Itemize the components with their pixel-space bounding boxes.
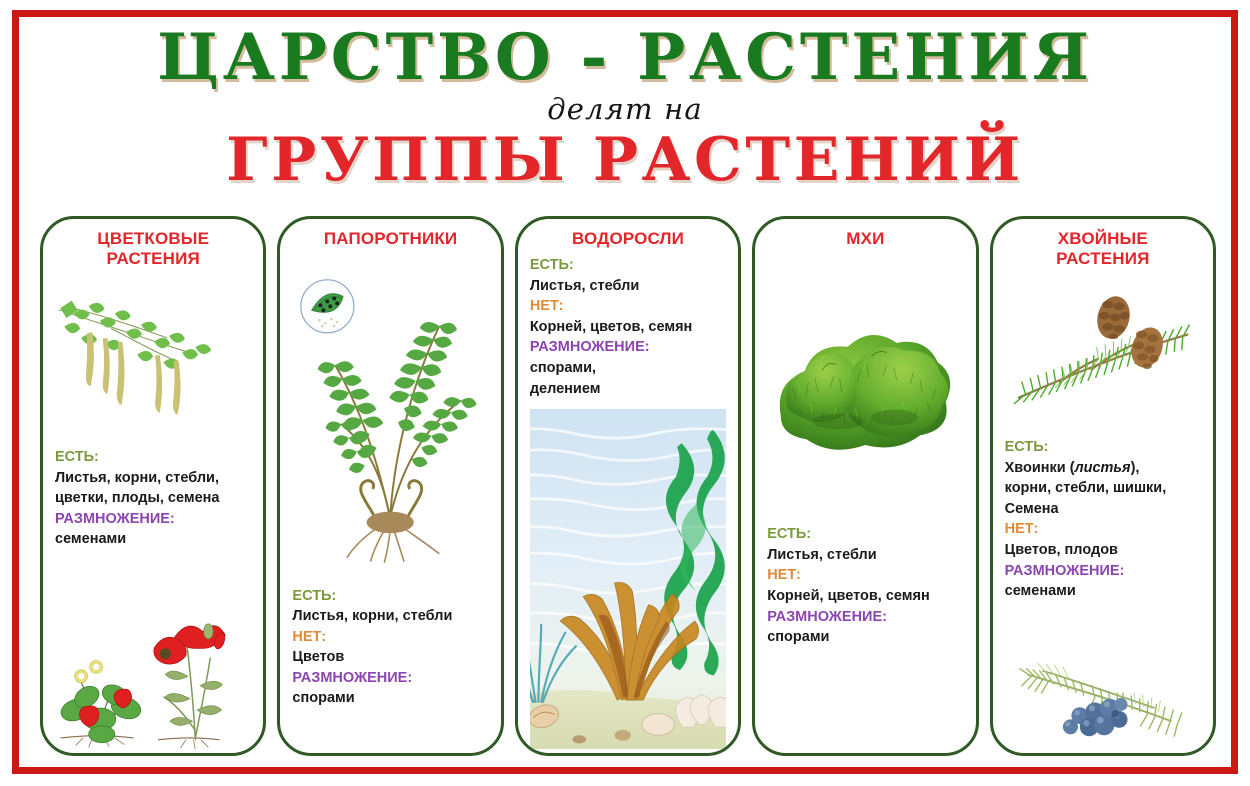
lacks-value: Корней, цветов, семян [530, 317, 726, 338]
has-value-line1: Хвоинки (листья), [1005, 458, 1201, 479]
card-facts-conifers: ЕСТЬ: Хвоинки (листья), корни, стебли, ш… [1005, 437, 1201, 602]
lacks-value: Корней, цветов, семян [767, 586, 963, 607]
card-title-ferns: ПАПОРОТНИКИ [292, 229, 488, 249]
card-title-conifers: ХВОЙНЫЕ РАСТЕНИЯ [1005, 229, 1201, 269]
card-facts-algae: ЕСТЬ: Листья, стебли НЕТ: Корней, цветов… [530, 255, 726, 399]
label-reproduction: РАЗМНОЖЕНИЕ: [292, 668, 488, 689]
label-has: ЕСТЬ: [530, 255, 726, 276]
reproduction-value: спорами [767, 627, 963, 648]
card-spacer [767, 648, 963, 749]
page-title-main: ЦАРСТВО - РАСТЕНИЯ [22, 20, 1228, 90]
card-title-flowering: ЦВЕТКОВЫЕ РАСТЕНИЯ [55, 229, 251, 269]
label-reproduction: РАЗМНОЖЕНИЕ: [767, 607, 963, 628]
has-value-line1: Листья, корни, стебли [292, 606, 488, 627]
reproduction-value-line2: делением [530, 379, 726, 400]
label-reproduction: РАЗМНОЖЕНИЕ: [1005, 561, 1201, 582]
label-has: ЕСТЬ: [55, 447, 251, 468]
has-value-part-a: Хвоинки ( [1005, 460, 1075, 476]
poster: ЦАРСТВО - РАСТЕНИЯ делят на ГРУППЫ РАСТЕ… [0, 0, 1250, 786]
plant-group-cards: ЦВЕТКОВЫЕ РАСТЕНИЯ [40, 216, 1216, 756]
label-lacks: НЕТ: [767, 565, 963, 586]
card-title-line2: РАСТЕНИЯ [55, 249, 251, 269]
card-title-line1: ХВОЙНЫЕ [1005, 229, 1201, 249]
poster-header: ЦАРСТВО - РАСТЕНИЯ делят на ГРУППЫ РАСТЕ… [22, 20, 1228, 210]
card-title-mosses: МХИ [767, 229, 963, 249]
card-mosses[interactable]: МХИ [752, 216, 978, 756]
spruce-branch-with-cones-illustration [1005, 271, 1201, 437]
fern-illustration [292, 251, 488, 586]
card-spacer [292, 709, 488, 749]
birch-branch-illustration [55, 271, 251, 447]
has-value-part-b: ), [1131, 460, 1140, 476]
reproduction-value: семенами [1005, 581, 1201, 602]
reproduction-value: семенами [55, 529, 251, 550]
has-value-line3: Семена [1005, 499, 1201, 520]
card-facts-flowering: ЕСТЬ: Листья, корни, стебли, цветки, пло… [55, 447, 251, 550]
card-ferns[interactable]: ПАПОРОТНИКИ [277, 216, 503, 756]
reproduction-value: спорами [292, 688, 488, 709]
card-algae[interactable]: ВОДОРОСЛИ ЕСТЬ: Листья, стебли НЕТ: Корн… [515, 216, 741, 756]
card-facts-ferns: ЕСТЬ: Листья, корни, стебли НЕТ: Цветов … [292, 586, 488, 709]
lacks-value: Цветов, плодов [1005, 540, 1201, 561]
card-title-algae: ВОДОРОСЛИ [530, 229, 726, 249]
has-value-line2: корни, стебли, шишки, [1005, 478, 1201, 499]
card-title-line1: ПАПОРОТНИКИ [292, 229, 488, 249]
card-title-line2: РАСТЕНИЯ [1005, 249, 1201, 269]
label-has: ЕСТЬ: [292, 586, 488, 607]
has-value-line1: Листья, корни, стебли, [55, 468, 251, 489]
label-lacks: НЕТ: [530, 296, 726, 317]
has-value-line2: цветки, плоды, семена [55, 488, 251, 509]
lacks-value: Цветов [292, 647, 488, 668]
reproduction-value-line1: спорами, [530, 358, 726, 379]
page-title-sub: ГРУППЫ РАСТЕНИЙ [22, 130, 1228, 190]
page-title-connector: делят на [22, 92, 1228, 126]
moss-clump-photo [767, 251, 963, 524]
juniper-with-berries-photo [1005, 602, 1201, 749]
has-value-line1: Листья, стебли [530, 276, 726, 297]
has-value-part-italic: листья [1075, 460, 1131, 476]
card-conifers[interactable]: ХВОЙНЫЕ РАСТЕНИЯ [990, 216, 1216, 756]
card-title-line1: ЦВЕТКОВЫЕ [55, 229, 251, 249]
strawberry-and-poppy-illustration [55, 550, 251, 749]
label-has: ЕСТЬ: [767, 524, 963, 545]
underwater-seaweed-illustration [530, 409, 726, 749]
card-title-line1: ВОДОРОСЛИ [530, 229, 726, 249]
label-lacks: НЕТ: [292, 627, 488, 648]
card-facts-mosses: ЕСТЬ: Листья, стебли НЕТ: Корней, цветов… [767, 524, 963, 647]
label-reproduction: РАЗМНОЖЕНИЕ: [55, 509, 251, 530]
has-value-line1: Листья, стебли [767, 545, 963, 566]
card-flowering-plants[interactable]: ЦВЕТКОВЫЕ РАСТЕНИЯ [40, 216, 266, 756]
card-title-line1: МХИ [767, 229, 963, 249]
label-has: ЕСТЬ: [1005, 437, 1201, 458]
poster-content: ЦАРСТВО - РАСТЕНИЯ делят на ГРУППЫ РАСТЕ… [22, 20, 1228, 764]
label-reproduction: РАЗМНОЖЕНИЕ: [530, 337, 726, 358]
label-lacks: НЕТ: [1005, 519, 1201, 540]
